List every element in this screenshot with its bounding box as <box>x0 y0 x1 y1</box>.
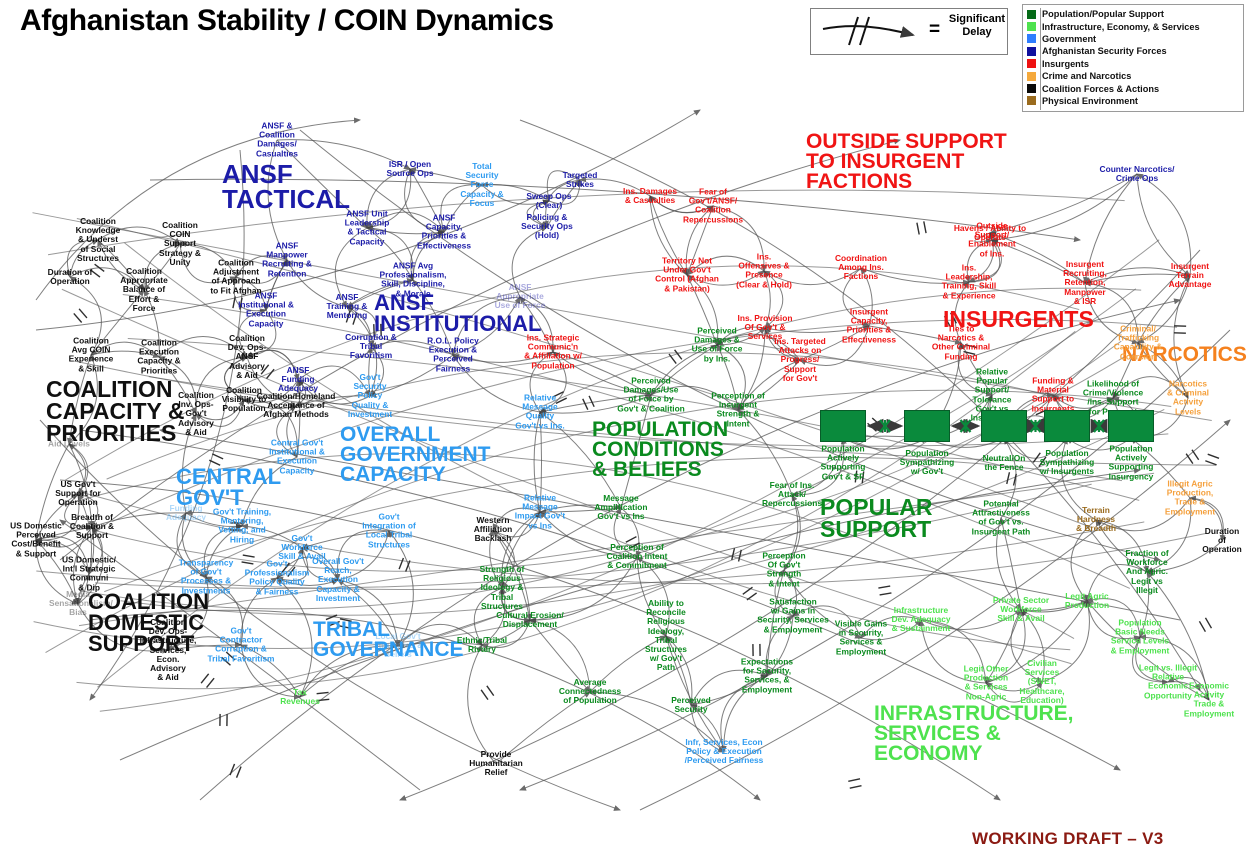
legend-color-swatch <box>1027 34 1036 43</box>
legend-color-swatch <box>1027 72 1036 81</box>
variable-node[interactable]: Infr, Services, Econ Policy & Execution … <box>677 738 771 766</box>
legend-row: Population/Popular Support <box>1027 8 1241 20</box>
variable-node[interactable]: US Domestic/ Int'l Strategic Communi & D… <box>58 556 120 593</box>
variable-node[interactable]: US Domestic Perceived Cost/Benefit & Sup… <box>3 522 69 559</box>
legend-label: Infrastructure, Economy, & Services <box>1042 22 1200 32</box>
population-stock-box[interactable] <box>1108 410 1154 442</box>
color-legend: Population/Popular SupportInfrastructure… <box>1022 4 1244 112</box>
variable-node[interactable]: Coalition Dev. Ops- ANSF Advisory & Aid <box>222 334 272 380</box>
variable-node[interactable]: Gov't Training, Mentoring, Vetting, and … <box>209 508 275 545</box>
legend-label: Physical Environment <box>1042 96 1138 106</box>
variable-node[interactable]: Sweep Ops (Clear) <box>522 192 576 210</box>
variable-node[interactable]: Gov't Integration of Local Tribal Struct… <box>358 513 420 550</box>
variable-node[interactable]: Terrain Hardness & Breadth <box>1069 506 1123 534</box>
variable-node[interactable]: Ethnic/Tribal Rivalry <box>453 636 511 654</box>
variable-node[interactable]: Funding Adequacy <box>160 504 212 522</box>
legend-color-swatch <box>1027 10 1036 19</box>
legend-row: Government <box>1027 33 1241 45</box>
variable-node[interactable]: Coordination Among Ins. Factions <box>830 254 892 282</box>
variable-node[interactable]: Narcotics & Criminal Activity Levels <box>1161 380 1215 417</box>
variable-node[interactable]: Coalition/Homeland Acceptance of Afghan … <box>251 392 341 420</box>
legend-row: Insurgents <box>1027 58 1241 70</box>
variable-node[interactable]: Perceived Damages & Use of Force by Ins. <box>686 327 748 364</box>
variable-node[interactable]: Insurgent Capacity, Priorities & Effecti… <box>837 308 901 345</box>
section-heading: POPULATION CONDITIONS & BELIEFS <box>592 420 728 480</box>
population-stock-label: Neutral/On the Fence <box>973 454 1035 472</box>
variable-node[interactable]: ANSF Training & Mentoring <box>321 293 373 321</box>
legend-color-swatch <box>1027 22 1036 31</box>
variable-node[interactable]: Ins. Strategic Communic'n & Affiliation … <box>516 334 590 371</box>
variable-node[interactable]: Civilian Services (SWET, Healthcare, Edu… <box>1015 659 1069 705</box>
legend-color-swatch <box>1027 84 1036 93</box>
variable-node[interactable]: Legit Other Production & Services Non-Ag… <box>957 665 1015 702</box>
variable-node[interactable]: Perceived Damages/Use of Force by Gov't … <box>615 377 687 414</box>
variable-node[interactable]: Provide Humanitarian Relief <box>465 750 527 778</box>
legend-label: Afghanistan Security Forces <box>1042 46 1167 56</box>
delay-key-box: = Significant Delay <box>810 8 1008 55</box>
variable-node[interactable]: Fear of Ins. Attack/ Repercussions <box>760 481 824 509</box>
page-title: Afghanistan Stability / COIN Dynamics <box>20 4 554 38</box>
population-stock-box[interactable] <box>981 410 1027 442</box>
variable-node[interactable]: Duration of Operation <box>43 268 97 286</box>
delay-equals-sign: = <box>929 19 940 41</box>
legend-label: Coalition Forces & Actions <box>1042 84 1159 94</box>
variable-node[interactable]: ANSF Avg Professionalism, Skill, Discipl… <box>375 262 451 299</box>
delay-key-label: Significant Delay <box>947 13 1007 38</box>
variable-node[interactable]: Policing & Security Ops (Hold) <box>516 213 578 241</box>
delay-symbol-icon <box>813 9 933 54</box>
variable-node[interactable]: Criminal/ Trafficking Capability & Coerc… <box>1108 325 1168 362</box>
variable-node[interactable]: Media Sensationalism/ Bias <box>49 590 107 618</box>
variable-node[interactable]: ANSF Funding Adequacy <box>273 366 323 394</box>
variable-node[interactable]: US Gov't Support for Operation <box>50 480 106 508</box>
variable-node[interactable]: Duration of Operation <box>1198 527 1246 555</box>
section-heading: COALITION CAPACITY & PRIORITIES <box>46 378 184 444</box>
legend-divider <box>1040 8 1041 110</box>
population-stock-box[interactable] <box>820 410 866 442</box>
legend-color-swatch <box>1027 47 1036 56</box>
variable-node[interactable]: Relative Message Quality Gov't vs Ins. <box>512 394 568 431</box>
variable-node[interactable]: Cultural Erosion/ Displacement <box>491 611 569 629</box>
variable-node[interactable]: Corruption & Tribal Favoritism <box>341 333 401 361</box>
variable-node[interactable]: Tax Revenues <box>274 688 326 706</box>
population-stock-box[interactable] <box>1044 410 1090 442</box>
draft-stamp: WORKING DRAFT – V3 <box>972 829 1163 849</box>
variable-node[interactable]: Coalition Avg COIN Experience & Skill <box>64 337 118 374</box>
coin-dynamics-diagram: Afghanistan Stability / COIN Dynamics = … <box>0 0 1248 858</box>
variable-node[interactable]: ANSF Appropriate Use of Force <box>491 283 549 311</box>
population-stock-label: Population Sympathizing w/ Gov't <box>896 449 958 477</box>
legend-label: Population/Popular Support <box>1042 9 1164 19</box>
variable-node[interactable]: Gov't Contractor Corruption & Tribal Fav… <box>204 627 278 664</box>
variable-node[interactable]: Coalition Appropriate Balance of Effort … <box>117 267 171 313</box>
variable-node[interactable]: Illegit Agric Production, Trade & Employ… <box>1160 480 1220 517</box>
legend-label: Insurgents <box>1042 59 1089 69</box>
variable-node[interactable]: Ins. Damages & Casualties <box>618 187 682 205</box>
variable-node[interactable]: Strength of Religious Ideology & Tribal … <box>473 565 531 611</box>
variable-node[interactable]: Private Sector Workforce Skill & Avail <box>988 596 1054 624</box>
variable-node[interactable]: Gov't Professionalism Policy Quality & F… <box>241 560 313 597</box>
variable-node[interactable]: Ins. Targeted Attacks on Progress/ Suppo… <box>769 337 831 383</box>
population-stock-label: Population Actively Supporting Gov't & S… <box>812 445 874 482</box>
variable-node[interactable]: Coalition Execution Capacity & Prioritie… <box>131 339 187 376</box>
variable-node[interactable]: Population Basic Needs Service Levels & … <box>1107 619 1173 656</box>
variable-node[interactable]: Fraction of Workforce And Agric. Legit v… <box>1120 549 1174 595</box>
variable-node[interactable]: Message Amplification Gov't vs Ins <box>589 494 653 522</box>
variable-node[interactable]: Legit vs. Illegit Relative Economic Oppo… <box>1135 664 1201 701</box>
variable-node[interactable]: Coalition Knowledge & Underst of Social … <box>71 217 125 263</box>
variable-node[interactable]: Perceived Security <box>665 696 717 714</box>
legend-row: Physical Environment <box>1027 95 1241 107</box>
legend-row: Crime and Narcotics <box>1027 70 1241 82</box>
variable-node[interactable]: Insurgent Terrain Advantage <box>1161 262 1219 290</box>
variable-node[interactable]: Visible Gains in Security, Services & Em… <box>830 620 892 657</box>
variable-node[interactable]: Perception of Coalition Intent & Commitm… <box>600 543 674 571</box>
section-heading: POPULAR SUPPORT <box>820 496 932 540</box>
variable-node[interactable]: Perception Of Gov't Strength & Intent <box>756 552 812 589</box>
section-heading: ANSF TACTICAL <box>222 162 350 212</box>
variable-node[interactable]: Transparency of Gov't Processes & Invest… <box>174 559 238 596</box>
variable-node[interactable]: Targeted Strikes <box>555 171 605 189</box>
legend-label: Crime and Narcotics <box>1042 71 1131 81</box>
legend-row: Coalition Forces & Actions <box>1027 82 1241 94</box>
variable-node[interactable]: Territory Not Under Gov't Control (Afgha… <box>651 257 723 294</box>
variable-node[interactable]: Potential Attractiveness of Gov't vs. In… <box>968 500 1034 537</box>
variable-node[interactable]: Expectations for Security, Services, & E… <box>735 658 799 695</box>
variable-node[interactable]: Outside Support/ Enablement of Ins. <box>964 222 1020 259</box>
variable-node[interactable]: Coalition Dev. Ops- Infrastructure, Serv… <box>139 618 197 682</box>
variable-node[interactable]: ANSF Institutional & Execution Capacity <box>233 292 299 329</box>
section-heading: OVERALL GOVERNMENT CAPACITY <box>340 425 491 485</box>
variable-node[interactable]: Coalition Inv. Ops- Gov't Advisory & Aid <box>172 391 220 437</box>
variable-node[interactable]: ANSF Unit Leadership & Tactical Capacity <box>338 210 396 247</box>
variable-node[interactable]: Perception of Insurgent Strength & Inten… <box>706 392 770 429</box>
variable-node[interactable]: Aid Levels <box>42 439 96 448</box>
population-stock-label: Population Sympathizing w/ Insurgents <box>1036 449 1098 477</box>
variable-node[interactable]: ANSF & Coalition Damages/ Casualties <box>247 122 307 159</box>
variable-node[interactable]: Central Gov't Institutional & Execution … <box>266 439 328 476</box>
variable-node[interactable]: Funding & Material Support to Insurgents <box>1025 377 1081 414</box>
variable-node[interactable]: Breadth of Coalition & Support <box>63 513 121 541</box>
variable-node[interactable]: Overall Gov't Reach, Execution Capacity … <box>309 557 367 603</box>
variable-node[interactable]: Gov't Security Policy Quality & Investme… <box>344 373 396 419</box>
variable-node[interactable]: Counter Narcotics/ Crime Ops <box>1097 165 1177 183</box>
variable-node[interactable]: Satisfaction w/ Gains in Security, Servi… <box>756 598 830 635</box>
variable-node[interactable]: Fear of Gov't/ANSF/ Coalition Repercussi… <box>679 188 747 225</box>
section-heading: INFRASTRUCTURE, SERVICES & ECONOMY <box>874 704 1074 764</box>
variable-node[interactable]: Ins. Offensives & Presence (Clear & Hold… <box>733 253 795 290</box>
variable-node[interactable]: Legit Agric Production <box>1059 592 1115 610</box>
variable-node[interactable]: Infrastructure Dev. Adequacy & Sustainme… <box>885 606 957 634</box>
variable-node[interactable]: Average Connectedness of Population <box>553 678 627 706</box>
variable-node[interactable]: Ability to Reconcile Religious Ideology,… <box>638 599 694 673</box>
variable-node[interactable]: Local Gov't Structures & Beliefs <box>369 632 427 660</box>
variable-node[interactable]: ISR / Open Source Ops <box>382 160 438 178</box>
section-heading: OUTSIDE SUPPORT TO INSURGENT FACTIONS <box>806 132 1007 192</box>
legend-color-swatch <box>1027 59 1036 68</box>
variable-node[interactable]: Insurgent Recruiting, Retention, Manpowe… <box>1056 260 1114 306</box>
variable-node[interactable]: Total Security Force Capacity & Focus <box>457 162 507 208</box>
variable-node[interactable]: Coalition COIN Support Strategy & Unity <box>155 221 205 267</box>
population-stock-label: Population Actively Supporting Insurgenc… <box>1100 445 1162 482</box>
legend-color-swatch <box>1027 96 1036 105</box>
variable-node[interactable]: Western Affiliation Backlash <box>465 516 521 544</box>
legend-row: Infrastructure, Economy, & Services <box>1027 20 1241 32</box>
legend-row: Afghanistan Security Forces <box>1027 45 1241 57</box>
population-stock-box[interactable] <box>904 410 950 442</box>
variable-node[interactable]: Ins. Leadership, Training, Skill & Exper… <box>936 264 1002 301</box>
variable-node[interactable]: Ties to Narcotics & Other Criminal Fundi… <box>927 325 995 362</box>
legend-label: Government <box>1042 34 1096 44</box>
variable-node[interactable]: ANSF Capacity, Priorities & Effectivenes… <box>413 214 475 251</box>
variable-node[interactable]: R.O.L. Policy Execution & Perceived Fair… <box>422 337 484 374</box>
